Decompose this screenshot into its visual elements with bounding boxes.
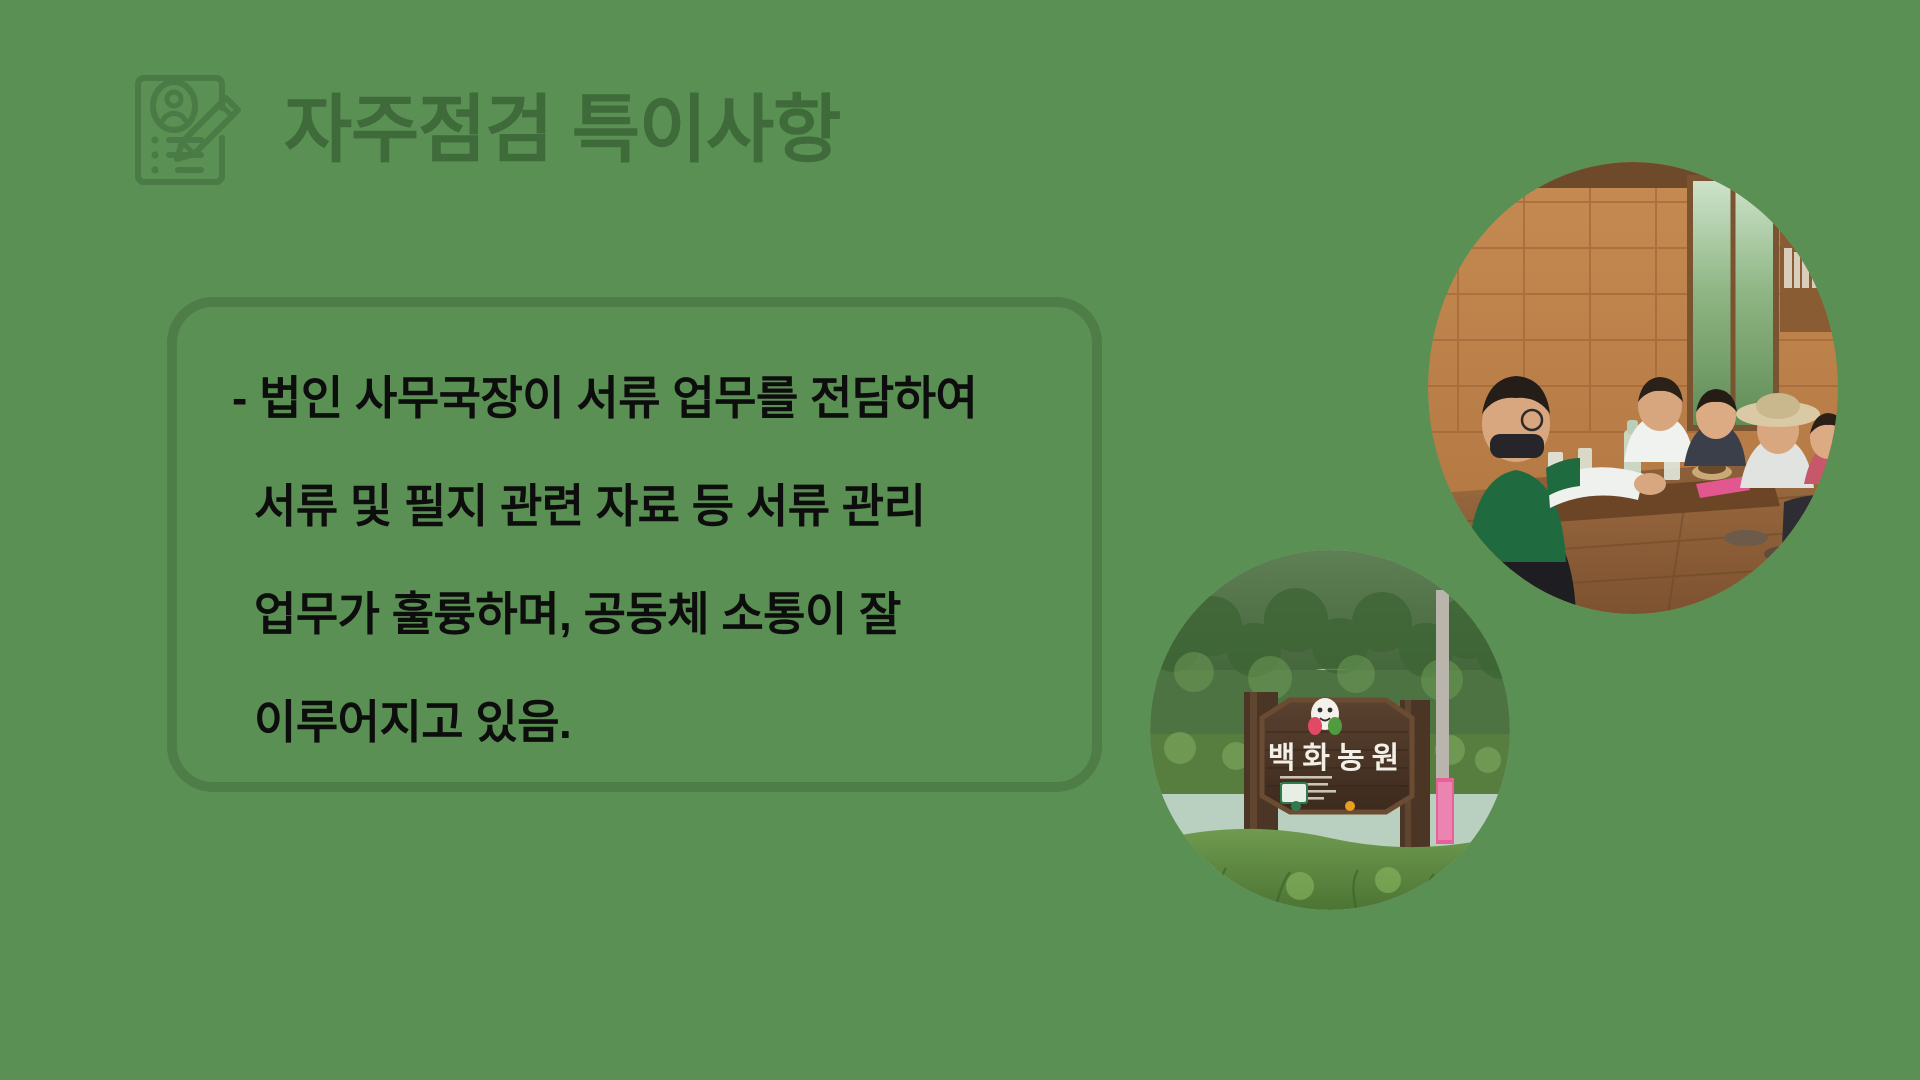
farm-sign-photo: 백화농원	[1150, 550, 1510, 910]
page-title: 자주점검 특이사항	[284, 93, 840, 167]
slide-title-row: 자주점검 특이사항	[130, 66, 840, 194]
sign-title-text: 백화농원	[1268, 742, 1406, 775]
slide-root: 자주점검 특이사항 - 법인 사무국장이 서류 업무를 전담하여 서류 및 필지…	[0, 0, 1920, 1080]
document-person-pencil-icon	[130, 66, 258, 194]
meeting-photo	[1428, 162, 1838, 614]
content-line-4: 이루어지고 있음.	[232, 699, 1092, 745]
content-line-2: 서류 및 필지 관련 자료 등 서류 관리	[232, 483, 1092, 529]
content-line-3: 업무가 훌륭하며, 공동체 소통이 잘	[232, 591, 1092, 637]
content-line-1: - 법인 사무국장이 서류 업무를 전담하여	[232, 375, 1092, 421]
content-card-text: - 법인 사무국장이 서류 업무를 전담하여 서류 및 필지 관련 자료 등 서…	[232, 375, 1092, 745]
